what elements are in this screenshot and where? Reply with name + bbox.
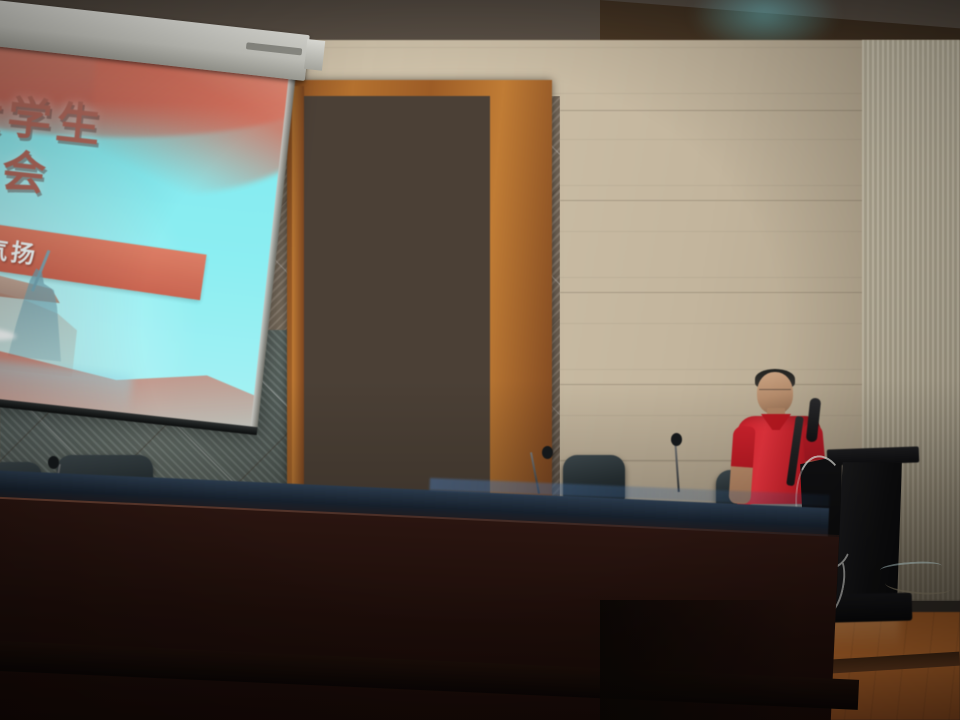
screen-housing-end-cap [304,39,325,71]
stage-shadow [600,600,800,720]
screen-housing-cap [246,42,302,55]
projection-screen: 南大学大学生入伍宣讲会 疆，军魂慑敌志气扬 大学武装部 一八年五月 [0,14,298,435]
table-microphone-3-head [671,433,682,446]
table-microphone-1-head [48,456,59,469]
auditorium-photo: 南大学大学生入伍宣讲会 疆，军魂慑敌志气扬 大学武装部 一八年五月 [0,0,960,720]
presenter-glasses [759,389,791,396]
table-microphone-2-head [542,446,553,459]
presentation-slide: 南大学大学生入伍宣讲会 疆，军魂慑敌志气扬 大学武装部 一八年五月 [0,14,298,435]
